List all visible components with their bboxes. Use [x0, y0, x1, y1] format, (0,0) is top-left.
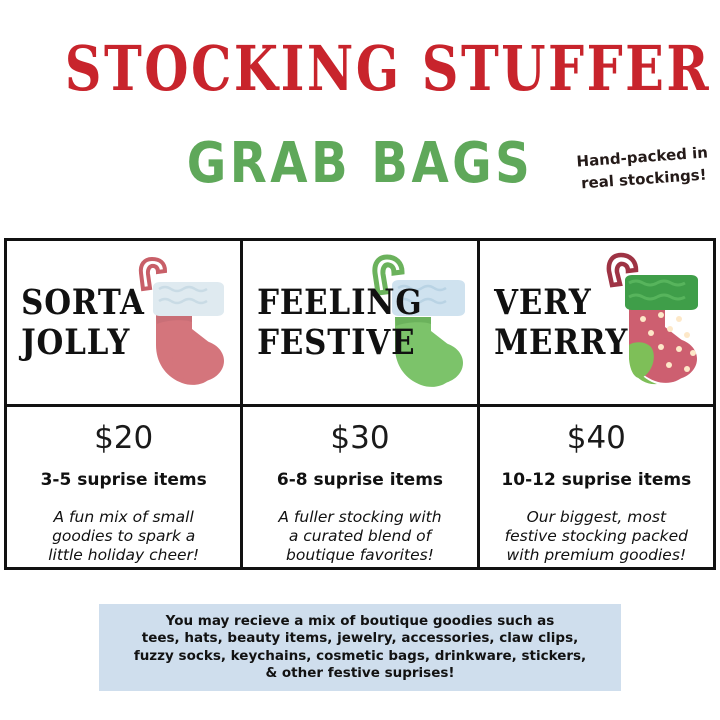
tier-header-feeling-festive: FEELING FESTIVE — [240, 241, 476, 404]
footer-note-box: You may recieve a mix of boutique goodie… — [99, 604, 621, 691]
tier-name: VERY MERRY — [480, 283, 628, 363]
page-title: STOCKING STUFFER — [65, 36, 655, 102]
tier-price: $30 — [330, 420, 389, 456]
tier-item-count: 10-12 suprise items — [501, 470, 691, 490]
table-row-pricing: $20 3-5 suprise items A fun mix of small… — [7, 404, 713, 567]
tier-description: A fuller stocking with a curated blend o… — [268, 508, 451, 565]
poster-canvas: STOCKING STUFFER GRAB BAGS Hand-packed i… — [0, 0, 720, 720]
tier-price: $40 — [567, 420, 626, 456]
tier-name: SORTA JOLLY — [7, 283, 145, 363]
tier-item-count: 6-8 suprise items — [277, 470, 443, 490]
tier-pricing-sorta-jolly: $20 3-5 suprise items A fun mix of small… — [7, 407, 240, 567]
hand-packed-note: Hand-packed in real stockings! — [571, 141, 716, 195]
tier-price: $20 — [94, 420, 153, 456]
tier-pricing-feeling-festive: $30 6-8 suprise items A fuller stocking … — [240, 407, 476, 567]
tier-description: Our biggest, most festive stocking packe… — [495, 508, 698, 565]
tier-header-very-merry: VERY MERRY — [477, 241, 713, 404]
tier-comparison-table: SORTA JOLLY FEELING FESTIVE — [4, 238, 716, 570]
table-row-headers: SORTA JOLLY FEELING FESTIVE — [7, 241, 713, 404]
tier-header-sorta-jolly: SORTA JOLLY — [7, 241, 240, 404]
tier-description: A fun mix of small goodies to spark a li… — [38, 508, 209, 565]
footer-note-text: You may recieve a mix of boutique goodie… — [134, 613, 586, 683]
tier-pricing-very-merry: $40 10-12 suprise items Our biggest, mos… — [477, 407, 713, 567]
tier-name: FEELING FESTIVE — [243, 283, 423, 363]
tier-item-count: 3-5 suprise items — [41, 470, 207, 490]
